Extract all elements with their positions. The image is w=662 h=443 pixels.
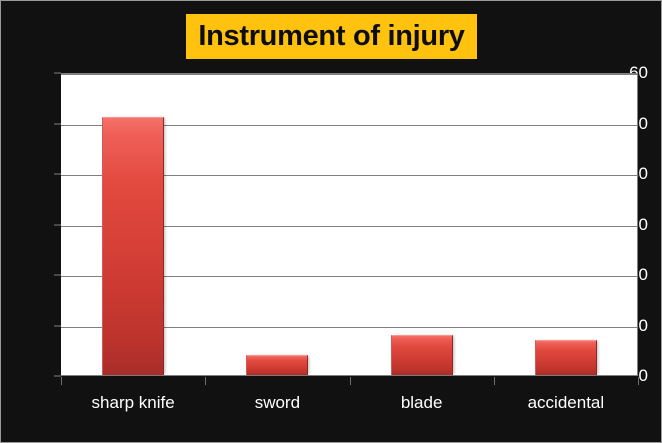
plot-area <box>61 73 638 376</box>
chart-title: Instrument of injury <box>186 14 477 59</box>
chart-container: Instrument of injury 0102030405060 sharp… <box>0 0 662 443</box>
x-axis-tick-label: accidental <box>528 393 605 413</box>
y-axis-tick-mark <box>54 275 61 276</box>
x-axis-baseline <box>61 375 637 376</box>
y-axis-tick-mark <box>54 325 61 326</box>
x-axis-tick-label: sword <box>255 393 300 413</box>
y-axis-tick-mark <box>54 123 61 124</box>
bar <box>102 117 164 375</box>
gridline <box>61 74 637 75</box>
x-axis-tick-mark <box>205 377 206 385</box>
y-axis-tick-mark <box>54 73 61 74</box>
bar <box>246 355 308 375</box>
x-axis-tick-mark <box>638 377 639 385</box>
y-axis-tick-label: 0 <box>639 366 648 386</box>
x-axis-tick-mark <box>61 377 62 385</box>
y-axis-tick-mark <box>54 224 61 225</box>
x-axis-tick-label: blade <box>401 393 443 413</box>
x-axis-tick-label: sharp knife <box>92 393 175 413</box>
y-axis-tick-mark <box>54 174 61 175</box>
x-axis-tick-mark <box>494 377 495 385</box>
y-axis-tick-mark <box>54 376 61 377</box>
x-axis-tick-mark <box>350 377 351 385</box>
bar <box>535 340 597 375</box>
bar <box>391 335 453 375</box>
chart-title-text: Instrument of injury <box>198 22 464 51</box>
